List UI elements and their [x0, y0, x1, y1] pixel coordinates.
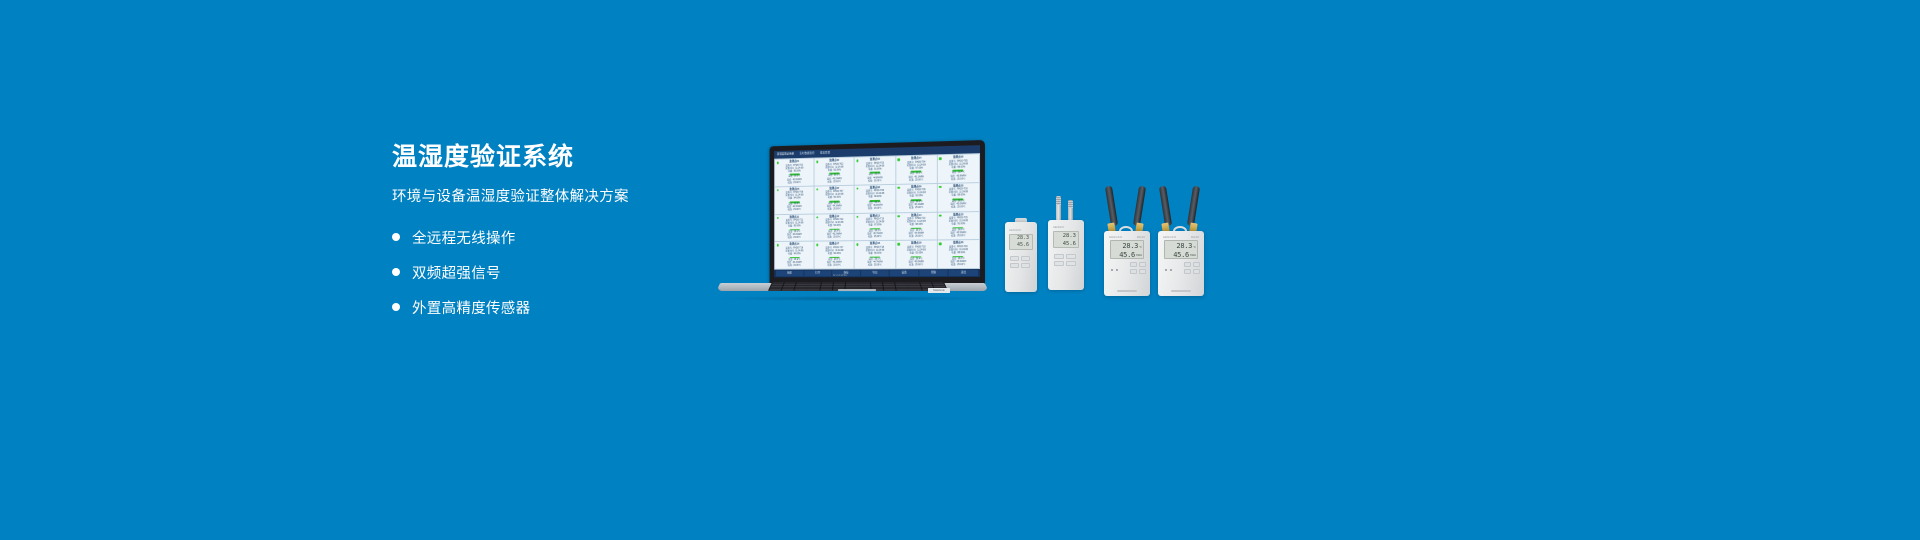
monitoring-card[interactable]: 监测点07设备号:RH20-T07采集时间:11:24:08电量:90.00%温…: [815, 185, 854, 213]
monitoring-card-key: 校准:: [909, 236, 914, 239]
monitoring-card-key: 校准:: [951, 235, 956, 238]
monitoring-card-key: 校准:: [868, 236, 873, 239]
status-led-icon: [776, 161, 778, 163]
monitoring-card-row: 校准:25.00℃: [940, 178, 978, 182]
lcd-temperature-value: 28.3: [1054, 233, 1076, 241]
probe-sensor-tip-right: [1068, 200, 1073, 208]
device-model-label: RH20: [1191, 235, 1199, 239]
monitoring-card-value: 91.00%: [957, 223, 965, 226]
lcd-humidity-unit: %RH: [1190, 253, 1196, 259]
laptop-lid: 温湿度验证系统 实时数据监控 报表管理 监测点01设备号:RH20-T01采集时…: [770, 140, 985, 285]
screen-toolbar-button[interactable]: 退出: [949, 270, 978, 276]
monitoring-card-row: 校准:25.00℃: [857, 208, 893, 212]
screen-header-item[interactable]: 实时数据监控: [800, 150, 815, 158]
promo-banner: 温湿度验证系统 环境与设备温湿度验证整体解决方案 全远程无线操作 双频超强信号 …: [0, 0, 1920, 540]
device-button[interactable]: [1010, 263, 1019, 268]
feature-item-2: 双频超强信号: [392, 262, 722, 283]
monitoring-card-value: 25.00℃: [915, 179, 923, 182]
wireless-logger-device-2: HENGKO RH20 28.3 ℃ 45.6 %RH: [1158, 186, 1204, 296]
device-brand-label: HENGKO: [1109, 235, 1122, 239]
probe-sensor-tip-left: [1056, 196, 1061, 205]
monitoring-card-value: 98.00%: [915, 224, 923, 227]
keyboard-key[interactable]: [769, 289, 782, 290]
monitoring-card-row: 校准:25.00℃: [777, 181, 812, 185]
monitoring-card-key: 校准:: [909, 264, 914, 267]
monitoring-card-value: 25.00℃: [833, 181, 841, 184]
monitoring-card[interactable]: 监测点04设备号:RH20-T04采集时间:11:24:08电量:97.00%温…: [896, 155, 937, 183]
lcd-temperature-value: 28.3: [1010, 235, 1032, 242]
monitoring-card[interactable]: 监测点01设备号:RH20-T01采集时间:11:24:08电量:95.00%温…: [775, 159, 814, 187]
monitoring-card-value: 25.00℃: [833, 265, 841, 268]
monitoring-card[interactable]: 监测点08设备号:RH20-T08采集时间:11:24:08电量:96.00%温…: [855, 185, 895, 213]
monitoring-card-value: 25.00℃: [874, 236, 882, 239]
status-led-icon: [897, 215, 899, 217]
monitoring-card[interactable]: 监测点13设备号:RH20-T13采集时间:11:24:08电量:87.00%温…: [855, 213, 895, 241]
monitoring-card-value: 88.00%: [957, 252, 965, 255]
feature-label: 外置高精度传感器: [412, 297, 530, 318]
device-button-group: [1054, 254, 1078, 266]
status-led-icon: [897, 158, 899, 161]
monitoring-card-row: 校准:25.00℃: [940, 264, 978, 267]
page-title: 温湿度验证系统: [392, 142, 722, 172]
status-led-icon: [897, 186, 899, 189]
device-button[interactable]: [1054, 254, 1064, 259]
status-led-icon: [776, 244, 778, 246]
screen-toolbar-button[interactable]: 新建: [776, 271, 803, 277]
monitoring-card[interactable]: 监测点20设备号:RH20-T20采集时间:11:24:08电量:88.00%温…: [938, 240, 979, 268]
monitoring-card-row: 校准:25.00℃: [857, 264, 893, 267]
lcd-humidity-value: 45.6: [1173, 251, 1189, 260]
monitoring-card-value: 94.00%: [794, 253, 801, 256]
laptop-model-badge: Matebook: [928, 288, 950, 293]
monitoring-card-value: 25.00℃: [957, 264, 965, 267]
monitoring-card-row: 校准:25.00℃: [857, 180, 893, 184]
monitoring-card[interactable]: 监测点09设备号:RH20-T09采集时间:11:24:08电量:92.00%温…: [896, 184, 937, 212]
monitoring-card-row: 校准:25.00℃: [898, 179, 935, 183]
status-led-icon: [939, 243, 941, 245]
status-led-icon: [939, 186, 941, 189]
antenna-right: [1133, 186, 1146, 227]
monitoring-card[interactable]: 监测点19设备号:RH20-T19采集时间:11:24:08电量:92.00%温…: [896, 241, 937, 269]
antenna-left: [1105, 186, 1118, 227]
monitoring-card-row: 电量:91.00%: [940, 223, 978, 227]
device-button-group: [1184, 262, 1200, 274]
status-led-icon: [897, 243, 899, 245]
monitoring-card-row: 校准:25.00℃: [817, 237, 853, 240]
status-led-icon: [816, 244, 818, 246]
lcd-humidity-line: 45.6 %RH: [1165, 251, 1196, 260]
device-button-group: [1010, 256, 1032, 268]
monitoring-card-value: 96.00%: [874, 253, 881, 256]
device-brand-label: HENGKO: [1009, 229, 1021, 232]
monitoring-card-key: 电量:: [909, 224, 914, 227]
monitoring-card-row: 校准:25.00℃: [857, 236, 893, 239]
monitoring-card-value: 90.00%: [834, 253, 841, 256]
antenna-left: [1159, 186, 1172, 227]
monitoring-card-key: 校准:: [868, 208, 873, 211]
monitoring-card-value: 25.00℃: [874, 208, 882, 211]
status-led-icon: [816, 160, 818, 162]
screen-toolbar-button[interactable]: 设置: [890, 270, 918, 276]
monitoring-card[interactable]: 监测点11设备号:RH20-T11采集时间:11:24:08电量:95.00%温…: [775, 214, 814, 241]
lcd-temperature-line: 28.3 ℃: [1165, 242, 1196, 251]
device-lcd-display: 28.3 45.6: [1009, 234, 1033, 250]
antenna-right: [1187, 186, 1200, 227]
feature-list: 全远程无线操作 双频超强信号 外置高精度传感器: [392, 227, 722, 318]
monitoring-card[interactable]: 监测点06设备号:RH20-T06采集时间:11:24:08电量:94.00%温…: [775, 186, 814, 213]
monitoring-card-key: 电量:: [909, 252, 914, 255]
monitoring-card[interactable]: 监测点15设备号:RH20-T15采集时间:11:24:08电量:91.00%温…: [938, 212, 979, 240]
keyboard-key[interactable]: [807, 289, 819, 290]
monitoring-card-value: 25.00℃: [957, 178, 965, 181]
screen-toolbar-button[interactable]: 导出: [861, 270, 889, 276]
monitoring-card-value: 25.00℃: [915, 236, 923, 239]
monitoring-card-key: 电量:: [788, 226, 793, 229]
monitoring-card-row: 校准:25.00℃: [817, 181, 853, 185]
monitoring-card-value: 25.00℃: [833, 237, 841, 240]
monitoring-card-key: 电量:: [788, 253, 793, 256]
monitoring-card[interactable]: 监测点14设备号:RH20-T14采集时间:11:24:08电量:98.00%温…: [896, 212, 937, 240]
monitoring-card[interactable]: 监测点16设备号:RH20-T16采集时间:11:24:08电量:94.00%温…: [775, 242, 814, 269]
laptop-trackpad: [838, 289, 876, 291]
monitoring-card-row: 校准:25.00℃: [898, 236, 935, 239]
device-button[interactable]: [1010, 256, 1019, 261]
monitoring-card-row: 电量:94.00%: [777, 253, 812, 256]
monitoring-card-key: 校准:: [951, 178, 956, 181]
monitoring-card-row: 电量:96.00%: [857, 253, 893, 256]
monitoring-card-row: 校准:25.00℃: [940, 207, 978, 211]
monitoring-card-key: 校准:: [951, 207, 956, 210]
lcd-humidity-value: 45.6: [1054, 241, 1076, 249]
monitoring-card-key: 校准:: [827, 237, 832, 240]
monitoring-card-value: 25.00℃: [874, 180, 882, 183]
device-button[interactable]: [1184, 262, 1191, 267]
device-button[interactable]: [1054, 261, 1064, 266]
monitoring-card-value: 25.00℃: [793, 209, 801, 212]
lcd-humidity-line: 45.6 %RH: [1111, 251, 1142, 260]
keyboard-key[interactable]: [820, 289, 832, 290]
device-button[interactable]: [1021, 263, 1030, 268]
device-button[interactable]: [1066, 261, 1076, 266]
status-led-icon: [939, 157, 941, 160]
laptop-product-image: 温湿度验证系统 实时数据监控 报表管理 监测点01设备号:RH20-T01采集时…: [720, 140, 985, 300]
keyboard-key[interactable]: [909, 289, 922, 290]
monitoring-card[interactable]: 监测点03设备号:RH20-T03采集时间:11:24:08电量:91.00%温…: [855, 156, 895, 184]
device-button[interactable]: [1139, 262, 1146, 267]
monitoring-card-row: 校准:25.00℃: [777, 265, 812, 268]
lcd-humidity-value: 45.6: [1119, 251, 1135, 260]
monitoring-card-row: 校准:25.00℃: [817, 264, 853, 267]
device-button[interactable]: [1066, 254, 1076, 259]
monitoring-card-key: 电量:: [868, 253, 873, 256]
monitoring-card-value: 25.00℃: [793, 265, 801, 268]
handheld-logger-device: HENGKO 28.3 45.6: [1005, 216, 1037, 292]
keyboard-key[interactable]: [884, 289, 896, 290]
device-brand-row: HENGKO RH20: [1109, 235, 1145, 239]
monitoring-card-key: 电量:: [828, 253, 833, 256]
device-brand-label: HENGKO: [1053, 226, 1064, 229]
monitoring-card-key: 校准:: [909, 208, 914, 211]
feature-item-3: 外置高精度传感器: [392, 297, 722, 318]
feature-label: 双频超强信号: [412, 262, 501, 283]
bullet-dot-icon: [392, 268, 400, 276]
device-button[interactable]: [1021, 256, 1030, 261]
monitoring-card[interactable]: 监测点12设备号:RH20-T12采集时间:11:24:08电量:93.00%温…: [815, 213, 854, 240]
device-lcd-display: 28.3 ℃ 45.6 %RH: [1164, 240, 1198, 259]
lcd-humidity-unit: %RH: [1136, 253, 1142, 259]
monitoring-card-row: 校准:25.00℃: [940, 235, 978, 238]
probe-logger-device: HENGKO 28.3 45.6: [1048, 196, 1084, 292]
device-button[interactable]: [1139, 269, 1146, 274]
device-brand-row: HENGKO RH20: [1163, 235, 1199, 239]
lcd-temperature-unit: ℃: [1193, 245, 1196, 251]
device-model-label: RH20: [1137, 235, 1145, 239]
device-button-group: [1130, 262, 1146, 274]
monitoring-card-value: 25.00℃: [957, 207, 965, 210]
monitoring-card-row: 电量:88.00%: [940, 252, 978, 255]
laptop-brand-label: HUAWEI: [833, 273, 848, 277]
monitoring-card-row: 电量:92.00%: [898, 252, 935, 255]
device-lcd-display: 28.3 45.6: [1053, 231, 1079, 248]
monitoring-card-key: 校准:: [788, 265, 793, 268]
wireless-logger-device-1: HENGKO RH20 28.3 ℃ 45.6 %RH: [1104, 186, 1150, 296]
lcd-temperature-unit: ℃: [1139, 245, 1142, 251]
monitoring-card-row: 校准:25.00℃: [898, 207, 935, 211]
status-led-icon: [1111, 269, 1113, 271]
monitoring-card-key: 校准:: [951, 264, 956, 267]
device-button[interactable]: [1193, 262, 1200, 267]
lcd-temperature-value: 28.3: [1176, 242, 1192, 251]
monitoring-card-value: 25.00℃: [915, 207, 923, 210]
monitoring-card-key: 校准:: [788, 237, 793, 240]
monitoring-card-row: 校准:25.00℃: [898, 264, 935, 267]
banner-subtitle: 环境与设备温湿度验证整体解决方案: [392, 188, 722, 207]
feature-label: 全远程无线操作: [412, 227, 516, 248]
monitoring-card-value: 92.00%: [915, 252, 923, 255]
monitoring-card-key: 电量:: [868, 225, 873, 228]
status-led-icon: [939, 214, 941, 217]
keyboard-key[interactable]: [781, 289, 794, 290]
monitoring-card[interactable]: 监测点17设备号:RH20-T17采集时间:11:24:08电量:90.00%温…: [815, 241, 854, 268]
monitoring-card[interactable]: 监测点10设备号:RH20-T10采集时间:11:24:08电量:89.00%温…: [938, 183, 979, 211]
monitoring-card-value: 25.00℃: [957, 235, 965, 238]
monitoring-card[interactable]: 监测点05设备号:RH20-T05采集时间:11:24:08电量:88.00%温…: [938, 154, 979, 183]
monitoring-card-value: 25.00℃: [833, 209, 841, 212]
monitoring-card-value: 93.00%: [834, 225, 841, 228]
screen-header-item[interactable]: 报表管理: [820, 149, 830, 157]
screen-header-item[interactable]: 温湿度验证系统: [777, 150, 794, 158]
laptop-shadow: [722, 296, 984, 301]
monitoring-card-key: 校准:: [827, 181, 832, 184]
bullet-dot-icon: [392, 303, 400, 311]
device-led-row: [1165, 269, 1172, 271]
screen-toolbar-button[interactable]: 帮助: [919, 270, 948, 276]
monitoring-card-key: 校准:: [827, 209, 832, 212]
feature-item-1: 全远程无线操作: [392, 227, 722, 248]
bullet-dot-icon: [392, 233, 400, 241]
status-led-icon: [1170, 269, 1172, 271]
device-brand-label: HENGKO: [1163, 235, 1176, 239]
keyboard-key[interactable]: [896, 289, 908, 290]
monitoring-card-value: 25.00℃: [793, 237, 801, 240]
status-led-icon: [1165, 269, 1167, 271]
keyboard-key[interactable]: [794, 289, 807, 290]
device-foot-line: [1171, 290, 1191, 292]
lcd-temperature-value: 28.3: [1122, 242, 1138, 251]
device-foot-line: [1117, 290, 1137, 292]
device-led-row: [1111, 269, 1118, 271]
monitoring-card-key: 校准:: [788, 182, 793, 185]
lcd-humidity-value: 45.6: [1010, 242, 1032, 249]
screen-toolbar-button[interactable]: 打开: [804, 270, 831, 276]
monitoring-card-row: 校准:25.00℃: [777, 209, 812, 213]
status-led-icon: [1116, 269, 1118, 271]
monitoring-card[interactable]: 监测点02设备号:RH20-T02采集时间:11:24:08电量:93.00%温…: [815, 158, 854, 186]
laptop-screen: 温湿度验证系统 实时数据监控 报表管理 监测点01设备号:RH20-T01采集时…: [774, 145, 980, 277]
banner-text-block: 温湿度验证系统 环境与设备温湿度验证整体解决方案 全远程无线操作 双频超强信号 …: [392, 142, 722, 332]
monitoring-card-key: 校准:: [827, 265, 832, 268]
monitoring-card-value: 25.00℃: [793, 182, 801, 185]
device-button[interactable]: [1130, 262, 1137, 267]
monitoring-card-row: 校准:25.00℃: [817, 209, 853, 213]
monitoring-card-key: 校准:: [868, 180, 873, 183]
device-button[interactable]: [1130, 269, 1137, 274]
monitoring-card-key: 校准:: [909, 179, 914, 182]
device-button[interactable]: [1184, 269, 1191, 274]
monitoring-card-value: 95.00%: [794, 226, 801, 229]
monitoring-card-row: 电量:90.00%: [817, 253, 853, 256]
monitoring-card-value: 87.00%: [874, 224, 881, 227]
monitoring-card-value: 25.00℃: [874, 264, 882, 267]
monitoring-card-value: 25.00℃: [915, 264, 923, 267]
lcd-temperature-line: 28.3 ℃: [1111, 242, 1142, 251]
device-button[interactable]: [1193, 269, 1200, 274]
monitoring-card-grid: 监测点01设备号:RH20-T01采集时间:11:24:08电量:95.00%温…: [774, 153, 980, 270]
monitoring-card-key: 电量:: [951, 252, 956, 255]
monitoring-card-key: 电量:: [828, 225, 833, 228]
status-led-icon: [776, 217, 778, 219]
device-lcd-display: 28.3 ℃ 45.6 %RH: [1110, 240, 1144, 259]
monitoring-card-row: 校准:25.00℃: [777, 237, 812, 240]
monitoring-card[interactable]: 监测点18设备号:RH20-T18采集时间:11:24:08电量:96.00%温…: [855, 241, 895, 268]
monitoring-card-key: 校准:: [868, 264, 873, 267]
monitoring-card-key: 电量:: [951, 224, 956, 227]
screen-bottom-toolbar: 新建打开保存导出设置帮助退出: [774, 269, 980, 277]
monitoring-card-key: 校准:: [788, 210, 793, 213]
